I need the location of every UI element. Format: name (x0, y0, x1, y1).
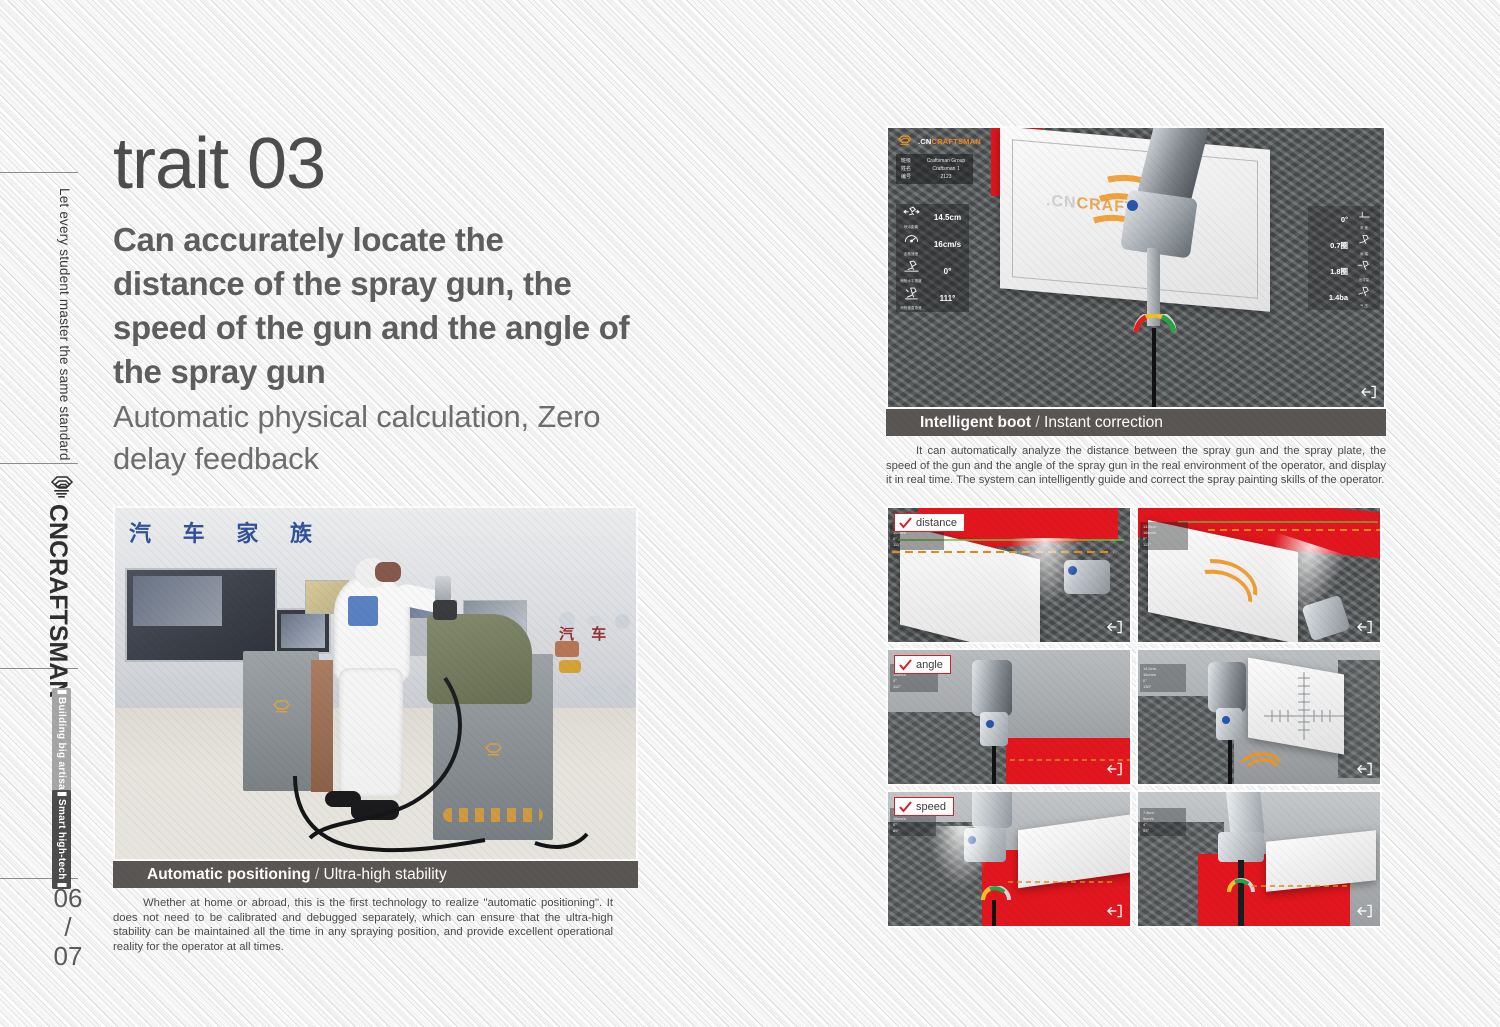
tile-hud-value: 0° (893, 822, 897, 827)
hud-metric-value: 1.8圈 (1308, 266, 1348, 277)
hud-brand-logo: .CNCRAFTSMAN (896, 134, 981, 149)
hud-metric-horizontal-angle: 喷枪水平角度 0° (896, 258, 969, 285)
hud-metric-tilt: 0° 角 度 (1308, 206, 1380, 232)
gun-pressure-icon: 气 压 (1348, 285, 1380, 309)
tile-gun-cable (992, 900, 996, 928)
hud-metric-cn-label: 喷涂距离 (896, 225, 926, 230)
gun-distance-icon: 喷涂距离 (896, 205, 926, 230)
hud-metrics-left: 喷涂距离 14.5cm 走枪速度 16cm/s (896, 204, 969, 312)
gun-fan-icon: 扇 幅 (1348, 233, 1380, 257)
tile-hud-value: 9cm/s (1143, 816, 1154, 821)
hud-metric-flow: 1.8圈 出漆量 (1308, 258, 1380, 284)
wall-emblem-6 (615, 684, 630, 699)
badge-smart-high-tech: Smart high-tech (52, 790, 71, 889)
tile-gun-paint-cup (972, 660, 1012, 716)
red-check-icon (899, 801, 912, 813)
page-title: trait 03 (113, 128, 638, 200)
exit-arrow-icon[interactable] (1104, 902, 1124, 920)
gun-flow-icon: 出漆量 (1348, 259, 1380, 283)
figure-intelligent-boot: .CNCRAFTSMAN (886, 126, 1386, 488)
brand-name: CNCRAFTSMAN (43, 504, 72, 698)
exit-arrow-icon[interactable] (1354, 618, 1374, 636)
wall-emblem-7 (555, 641, 579, 657)
spray-gun-blue-knob (1127, 200, 1138, 211)
hud-info-key: 编号 (898, 173, 921, 181)
page-number-slash: / (48, 913, 88, 942)
hud-info-key: 班级 (898, 157, 921, 165)
tile-hud-value: 93° (1143, 828, 1149, 833)
caption-intelligent-boot: Intelligent boot / Instant correction (886, 409, 1386, 436)
tile-spray-gun (980, 712, 1008, 746)
brand-tagline: Let every student master the same standa… (57, 188, 72, 461)
hud-info-value: Craftsman 1 (921, 165, 971, 173)
tile-spray-gun (1216, 708, 1242, 740)
hud-info-row: 姓名 Craftsman 1 (898, 165, 971, 173)
tile-hud-value: 0° (893, 678, 897, 683)
hud-metric-cn-label: 喷枪垂直角度 (896, 306, 926, 311)
hud-info-value: 2123 (921, 173, 971, 181)
tile-hud-value: 111° (893, 542, 901, 547)
hud-metric-value: 14.5cm (926, 213, 969, 222)
wall-sign-text: 汽 车 家 族 (129, 516, 324, 548)
hud-metric-cn-label: 气 压 (1348, 304, 1380, 309)
caption-sub: Instant correction (1044, 414, 1163, 431)
tile-label-text: angle (916, 659, 943, 671)
tile-spray-cone (928, 826, 994, 888)
tile-speed-alt-view[interactable]: 7.8cm 9cm/s 4° 93° (1136, 790, 1382, 928)
hud-metric-cn-label: 出漆量 (1348, 278, 1380, 283)
page-number: 06 / 07 (48, 884, 88, 971)
hud-hex-swirl-icon (896, 134, 913, 149)
hud-info-row: 班级 Craftsman Group (898, 157, 971, 165)
hud-metric-speed: 走枪速度 16cm/s (896, 231, 969, 258)
page-number-line-1: 06 (48, 884, 88, 913)
tile-hud-value: 111° (1143, 542, 1151, 547)
tile-hud-panel: 14.5cm 16cm/s 0° 111° (1140, 522, 1188, 550)
badge-notch-top (57, 690, 66, 694)
red-check-icon (899, 659, 912, 671)
hud-metric-value: 16cm/s (926, 240, 969, 249)
tile-hud-value: 14.5cm (1143, 666, 1156, 671)
tile-hud-value: 16cm/s (893, 816, 906, 821)
hud-metric-cn-label: 角 度 (1348, 226, 1380, 231)
hud-metric-vertical-angle: 喷枪垂直角度 111° (896, 285, 969, 312)
tile-gun-cable (1228, 740, 1232, 786)
tile-hud-value: 0° (1143, 536, 1147, 541)
tile-label-text: speed (916, 801, 946, 813)
tile-hud-value: 16cm/s (1143, 530, 1156, 535)
tile-distance[interactable]: 14.5cm 16cm/s 0° 111° distance (886, 506, 1132, 644)
subheadline: Automatic physical calculation, Zero del… (113, 396, 638, 480)
tile-gun-knob (1222, 716, 1230, 724)
tile-orange-swirl-graphic (1238, 744, 1288, 770)
tile-hud-value: 4° (1143, 822, 1147, 827)
red-check-icon (899, 517, 912, 529)
hud-metric-value: 0° (926, 267, 969, 276)
tile-hud-value: 16cm/s (1143, 672, 1156, 677)
exit-arrow-icon[interactable] (1354, 760, 1374, 778)
exit-arrow-icon[interactable] (1104, 760, 1124, 778)
hud-brand-text: .CNCRAFTSMAN (918, 137, 981, 146)
tile-gun-knob (986, 720, 994, 728)
hud-metric-cn-label: 走枪速度 (896, 252, 926, 257)
wall-emblem-1 (559, 612, 575, 628)
tile-gun-paint-cup (1208, 662, 1246, 712)
tile-spray-gun (1218, 832, 1264, 862)
worker-vr-headset (375, 562, 401, 582)
tile-angle[interactable]: 14.5cm 16cm/s 0° 111° angle (886, 648, 1132, 786)
rail-divider-2 (0, 463, 78, 464)
craftsman-hex-swirl-logo (46, 474, 76, 500)
tile-hud-value: 14.5cm (1143, 524, 1156, 529)
air-hoses (235, 658, 595, 858)
photo-vr-intelligent-boot: .CNCRAFTSMAN (886, 126, 1386, 409)
tile-spray-cone (1010, 538, 1080, 608)
measuring-ruler-icon (1258, 670, 1348, 746)
caption-separator: / (315, 866, 319, 883)
tile-label-angle: angle (894, 655, 951, 674)
exit-arrow-icon[interactable] (1354, 902, 1374, 920)
hud-brand-cn: .CN (918, 137, 932, 146)
body-copy-automatic-positioning: Whether at home or abroad, this is the f… (113, 896, 613, 954)
hud-info-row: 编号 2123 (898, 173, 971, 181)
caption-main: Intelligent boot (920, 414, 1031, 431)
caption-separator: / (1035, 414, 1039, 431)
wall-emblem-3 (615, 614, 630, 629)
tile-hud-value: 0° (893, 536, 897, 541)
hud-info-key: 姓名 (898, 165, 921, 173)
left-rail: Let every student master the same standa… (0, 0, 110, 1027)
caption-sub: Ultra-high stability (324, 866, 447, 883)
hud-overlay-hero: .CNCRAFTSMAN (888, 128, 1384, 407)
badge-2-label: Smart high-tech (56, 799, 67, 880)
tile-hud-value: 89° (893, 828, 899, 833)
caption-automatic-positioning: Automatic positioning / Ultra-high stabi… (113, 861, 638, 888)
tile-hud-panel: 7.8cm 9cm/s 4° 93° (1140, 808, 1186, 836)
left-text-column: trait 03 Can accurately locate the dista… (113, 128, 638, 480)
hud-metric-cn-label: 扇 幅 (1348, 252, 1380, 257)
caption-main: Automatic positioning (147, 866, 311, 883)
hud-metric-value: 0.7圈 (1308, 240, 1348, 251)
tile-label-speed: speed (894, 797, 954, 816)
wall-emblem-2 (587, 616, 601, 625)
badge-1-label: Building big artisans (56, 697, 67, 802)
tile-angle-alt-view[interactable]: 14.5cm 16cm/s 0° 130° (1136, 648, 1382, 786)
tile-hud-panel: 14.5cm 16cm/s 0° 130° (1140, 664, 1186, 692)
headline: Can accurately locate the distance of th… (113, 218, 638, 394)
body-copy-text: It can automatically analyze the distanc… (886, 445, 1386, 486)
hud-metric-value: 0° (1308, 215, 1348, 224)
page-number-line-2: 07 (48, 942, 88, 971)
hud-metric-distance: 喷涂距离 14.5cm (896, 204, 969, 231)
gun-tilt-icon: 角 度 (1348, 207, 1380, 231)
exit-arrow-icon[interactable] (1104, 618, 1124, 636)
handheld-spray-gun-cup (435, 576, 451, 602)
photo-spray-training-room: 汽 车 家 族 汽 车 (113, 506, 638, 861)
tile-guide-lines (1006, 874, 1116, 890)
wall-display-large (125, 568, 277, 662)
tile-speed[interactable]: 13.5cm 16cm/s 0° 89° speed (886, 790, 1132, 928)
page-background: Let every student master the same standa… (0, 0, 1500, 1027)
exit-arrow-icon[interactable] (1358, 383, 1378, 401)
desk-monitor (275, 608, 331, 654)
hud-info-value: Craftsman Group (921, 157, 971, 165)
tile-guide-lines (1250, 878, 1360, 894)
gun-horizontal-angle-icon: 喷枪水平角度 (896, 259, 926, 284)
tile-gun-paint-cup (972, 790, 1012, 828)
tile-hud-value: 0° (1143, 678, 1147, 683)
hud-brand-craftsman: CRAFTSMAN (932, 137, 981, 146)
hud-metric-value: 1.4ba (1308, 293, 1348, 302)
tile-gun-cable (992, 746, 996, 786)
badge2-notch-top (57, 792, 66, 796)
hud-metrics-right: 0° 角 度 0.7圈 扇 幅 1.8圈 (1308, 206, 1380, 310)
hud-metric-pressure: 1.4ba 气 压 (1308, 284, 1380, 310)
hud-metric-fan: 0.7圈 扇 幅 (1308, 232, 1380, 258)
figure-automatic-positioning: 汽 车 家 族 汽 车 (113, 506, 638, 954)
brand-lockup: CNCRAFTSMAN (44, 474, 76, 698)
hud-metric-cn-label: 喷枪水平角度 (896, 279, 926, 284)
body-copy-intelligent-boot: It can automatically analyze the distanc… (886, 444, 1386, 488)
gauge-speed-icon: 走枪速度 (896, 232, 926, 257)
gun-cable (1152, 328, 1156, 408)
rail-divider-1 (0, 172, 78, 173)
tile-hud-value: 130° (1143, 684, 1151, 689)
gun-vertical-angle-icon: 喷枪垂直角度 (896, 286, 926, 311)
hud-metric-value: 111° (926, 294, 969, 303)
hud-student-info-panel: 班级 Craftsman Group 姓名 Craftsman 1 编号 212… (896, 154, 973, 184)
tile-distance-alt-view[interactable]: 14.5cm 16cm/s 0° 111° (1136, 506, 1382, 644)
tile-label-text: distance (916, 517, 957, 529)
tile-hud-value: 7.8cm (1143, 810, 1154, 815)
body-copy-text: Whether at home or abroad, this is the f… (113, 897, 613, 953)
tile-label-distance: distance (894, 513, 965, 532)
tile-hud-value: 111° (893, 684, 901, 689)
tile-grid-spray-parameters: 14.5cm 16cm/s 0° 111° distance (886, 506, 1382, 928)
handheld-spray-gun-body (433, 600, 457, 620)
